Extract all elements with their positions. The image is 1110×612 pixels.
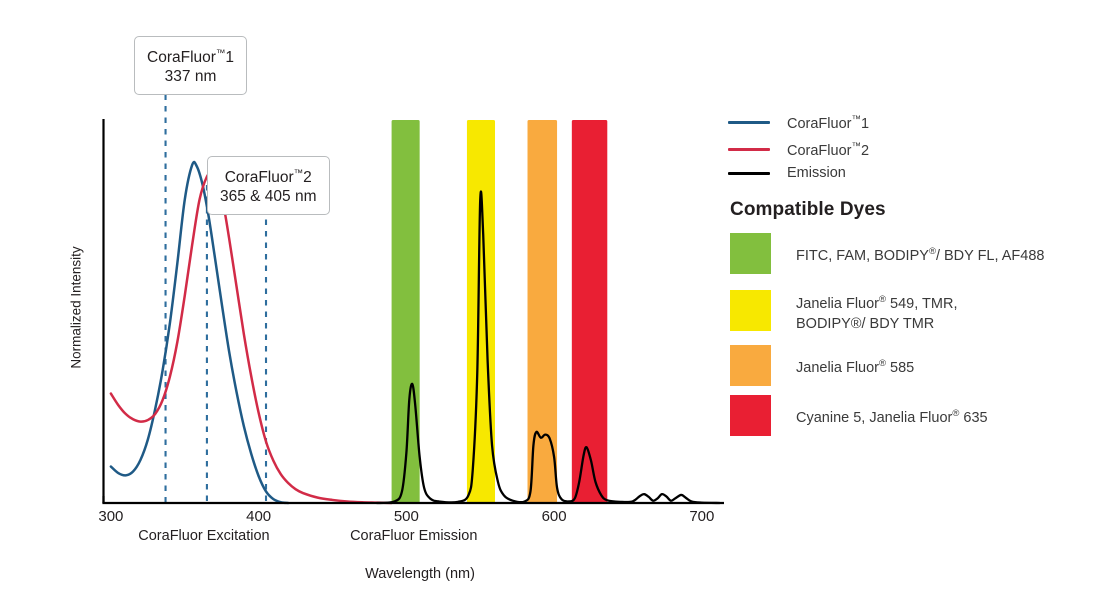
red-band <box>572 120 607 503</box>
callout-corafluor-1: CoraFluor™1 337 nm <box>134 36 247 95</box>
registered-icon: ® <box>879 358 886 369</box>
excitation-region-label: CoraFluor Excitation <box>104 528 304 544</box>
dye-label: Cyanine 5, Janelia Fluor® 635 <box>796 395 988 428</box>
color-swatch <box>730 395 771 436</box>
color-swatch <box>730 290 771 331</box>
callout-1-line1: CoraFluor™1 <box>147 44 234 67</box>
callout-1-number: 1 <box>225 49 234 66</box>
legend-label: CoraFluor™2 <box>787 141 869 159</box>
dye-label-text: FITC, FAM, BODIPY <box>796 248 929 264</box>
dye-label: FITC, FAM, BODIPY®/ BDY FL, AF488 <box>796 233 1044 266</box>
dye-label-text-cont: / BDY FL, AF488 <box>936 248 1045 264</box>
legend-line-swatch <box>728 121 770 124</box>
legend-line-swatch <box>728 148 770 151</box>
dye-item-orange: Janelia Fluor® 585 <box>730 345 914 386</box>
x-tick-label-300: 300 <box>81 508 141 525</box>
registered-icon: ® <box>879 294 886 305</box>
compatible-dyes-title: Compatible Dyes <box>730 199 886 221</box>
legend-line-swatch <box>728 172 770 175</box>
x-tick-label-400: 400 <box>229 508 289 525</box>
yellow-band <box>467 120 495 503</box>
legend-item-corafluor-2: CoraFluor™2 <box>728 141 869 159</box>
dye-label-text: Janelia Fluor <box>796 296 879 312</box>
callout-1-name: CoraFluor <box>147 49 216 66</box>
dye-label-text-cont: 549, TMR, <box>886 296 957 312</box>
trademark-icon: ™ <box>294 168 304 179</box>
legend-label-number: 2 <box>861 143 869 159</box>
callout-2-number: 2 <box>303 169 312 186</box>
trademark-icon: ™ <box>216 48 226 59</box>
x-tick-label-500: 500 <box>376 508 436 525</box>
plot-area: CoraFluor™1 337 nm CoraFluor™2 365 & 405… <box>0 0 740 612</box>
legend-label-text: CoraFluor <box>787 116 851 132</box>
x-tick-label-600: 600 <box>524 508 584 525</box>
legend-item-emission: Emission <box>728 165 846 181</box>
legend-label: CoraFluor™1 <box>787 114 869 132</box>
legend-label: Emission <box>787 165 846 181</box>
dye-label-line2: BODIPY®/ BDY TMR <box>796 316 934 332</box>
legend-item-corafluor-1: CoraFluor™1 <box>728 114 869 132</box>
legend-label-text: CoraFluor <box>787 143 851 159</box>
callout-1-line2: 337 nm <box>147 67 234 86</box>
dye-label-text-cont: 585 <box>886 360 914 376</box>
dye-item-green: FITC, FAM, BODIPY®/ BDY FL, AF488 <box>730 233 1044 274</box>
color-swatch <box>730 345 771 386</box>
dye-label-text: Janelia Fluor <box>796 360 879 376</box>
dye-item-red: Cyanine 5, Janelia Fluor® 635 <box>730 395 988 436</box>
chart-root: CoraFluor™1 337 nm CoraFluor™2 365 & 405… <box>0 0 1110 612</box>
legend-panel: CoraFluor™1 CoraFluor™2 Emission Compati… <box>728 0 1110 612</box>
emission-region-label: CoraFluor Emission <box>314 528 514 544</box>
dye-item-yellow: Janelia Fluor® 549, TMR,BODIPY®/ BDY TMR <box>730 290 957 334</box>
dye-label-text: Cyanine 5, Janelia Fluor <box>796 410 952 426</box>
color-swatch <box>730 233 771 274</box>
dye-bands-group <box>392 120 608 503</box>
trademark-icon: ™ <box>851 114 861 125</box>
legend-label-number: 1 <box>861 116 869 132</box>
x-tick-label-700: 700 <box>672 508 732 525</box>
callout-2-line2: 365 & 405 nm <box>220 187 317 206</box>
trademark-icon: ™ <box>851 141 861 152</box>
dye-label-text-cont: 635 <box>959 410 987 426</box>
registered-icon: ® <box>929 246 936 257</box>
callout-corafluor-2: CoraFluor™2 365 & 405 nm <box>207 156 330 215</box>
callout-2-name: CoraFluor <box>225 169 294 186</box>
vertical-marker-lines-group <box>166 60 266 503</box>
dye-label: Janelia Fluor® 585 <box>796 345 914 378</box>
green-band <box>392 120 420 503</box>
y-axis-title: Normalized Intensity <box>69 218 84 398</box>
dye-label: Janelia Fluor® 549, TMR,BODIPY®/ BDY TMR <box>796 290 957 334</box>
legend-label-text: Emission <box>787 165 846 181</box>
callout-2-line1: CoraFluor™2 <box>220 164 317 187</box>
x-axis-title: Wavelength (nm) <box>270 566 570 582</box>
